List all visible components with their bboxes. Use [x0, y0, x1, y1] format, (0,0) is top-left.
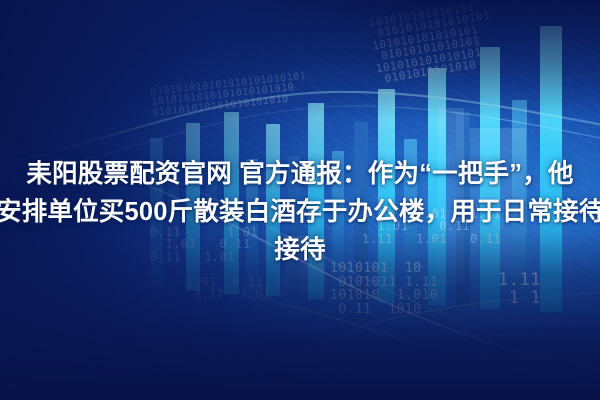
- headline-line-2: 安排单位买500斤散装白酒存于办公楼，用于日常接待: [0, 193, 600, 231]
- headline-text: 耒阳股票配资官网 官方通报：作为“一把手”，他 安排单位买500斤散装白酒存于办…: [0, 155, 600, 269]
- headline-line-1: 耒阳股票配资官网 官方通报：作为“一把手”，他: [0, 155, 600, 193]
- news-thumbnail-image: 101010101010101 0101010101010101 1010101…: [0, 0, 600, 400]
- headline-line-3: 接待: [0, 231, 600, 269]
